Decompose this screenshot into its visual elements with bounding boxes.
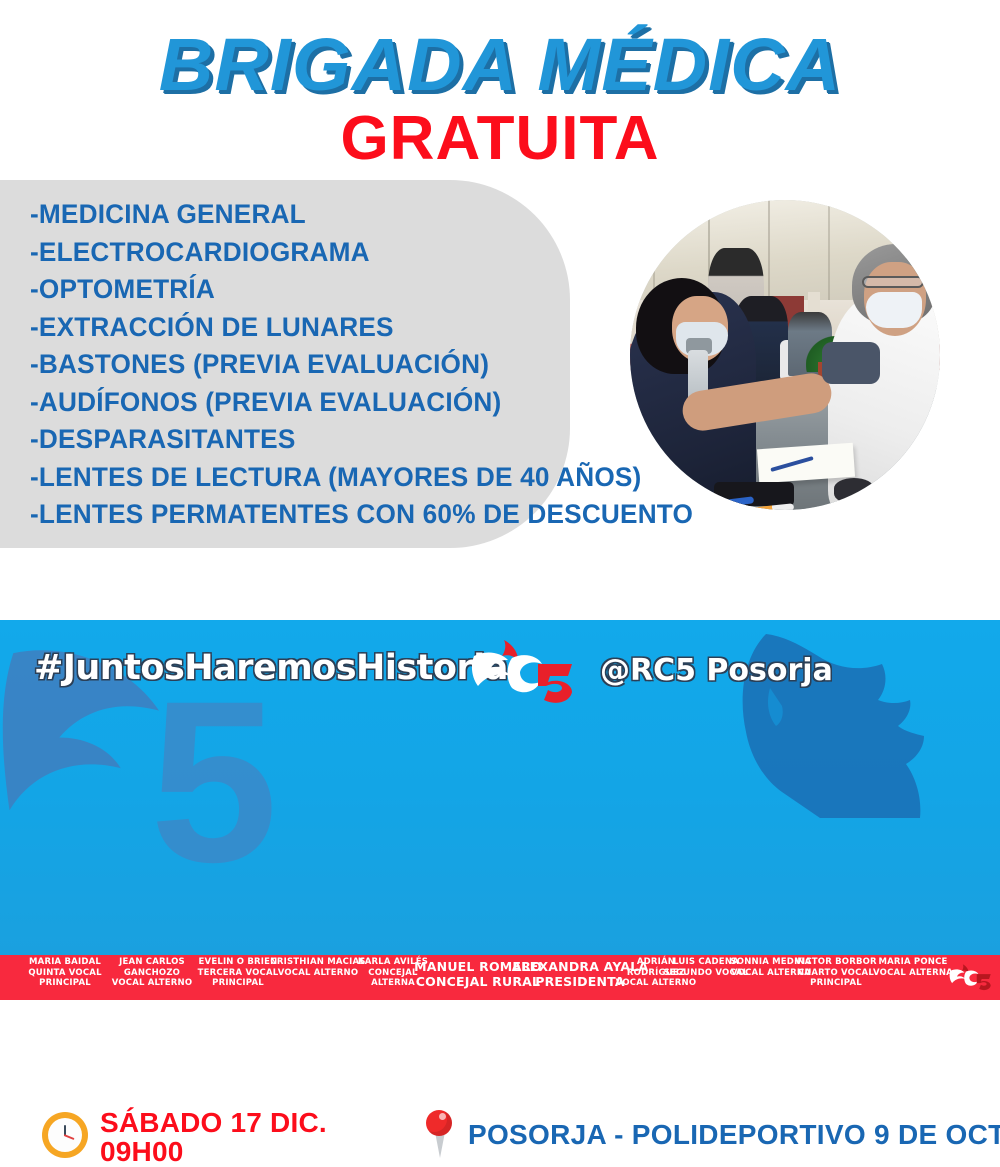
candidate-role: VOCAL ALTERNA (868, 968, 958, 979)
photo-device (834, 478, 874, 504)
event-date: SÁBADO 17 DIC. 09H00 (100, 1108, 380, 1166)
candidate-label: MARIA PONCE VOCAL ALTERNA (868, 957, 958, 978)
service-item: -AUDÍFONOS (PREVIA EVALUACIÓN) (30, 384, 573, 422)
photo-patient-glasses (862, 276, 924, 288)
services-list: -MEDICINA GENERAL -ELECTROCARDIOGRAMA -O… (30, 196, 590, 534)
clock-icon (42, 1112, 88, 1158)
service-item: -MEDICINA GENERAL (30, 196, 573, 234)
clock-face (48, 1118, 82, 1152)
candidates-footer: MARIA BAIDAL QUINTA VOCAL PRINCIPAL JEAN… (0, 955, 1000, 1000)
service-item: -ELECTROCARDIOGRAMA (30, 234, 573, 272)
rc5-logo-icon (468, 638, 580, 704)
service-item: -LENTES DE LECTURA (MAYORES DE 40 AÑOS) (30, 459, 573, 497)
service-item: -EXTRACCIÓN DE LUNARES (30, 309, 573, 347)
rc5-footer-logo-icon (948, 957, 994, 997)
service-item: -DESPARASITANTES (30, 421, 573, 459)
photo-blood-pressure-cuff (822, 342, 880, 384)
event-date-day: SÁBADO 17 DIC. (100, 1108, 380, 1137)
service-item: -OPTOMETRÍA (30, 271, 573, 309)
candidate-name: MARIA PONCE (868, 957, 958, 968)
watermark-number: 5 (150, 682, 278, 882)
page-subtitle: GRATUITA (0, 108, 1000, 170)
map-pin-icon (422, 1110, 456, 1158)
service-item: -BASTONES (PREVIA EVALUACIÓN) (30, 346, 573, 384)
title-block: BRIGADA MÉDICA GRATUITA (0, 0, 1000, 180)
photo-papers (757, 443, 855, 484)
page-title: BRIGADA MÉDICA (0, 0, 1000, 102)
social-handle: @RC5 Posorja (600, 654, 833, 688)
candidate-role: VOCAL ALTERNO (610, 978, 702, 989)
pin-highlight (439, 1113, 446, 1120)
photo-patient-mask (866, 292, 922, 328)
medical-brigade-photo (630, 200, 940, 510)
event-time: 09H00 (100, 1137, 380, 1166)
event-location: POSORJA - POLIDEPORTIVO 9 DE OCTUBRE (468, 1120, 1000, 1150)
event-info-bar: SÁBADO 17 DIC. 09H00 POSORJA - POLIDEPOR… (0, 552, 1000, 620)
campaign-hashtag: #JuntosHaremosHistoria (34, 648, 508, 688)
service-item: -LENTES PERMATENTES CON 60% DE DESCUENTO (30, 496, 573, 534)
